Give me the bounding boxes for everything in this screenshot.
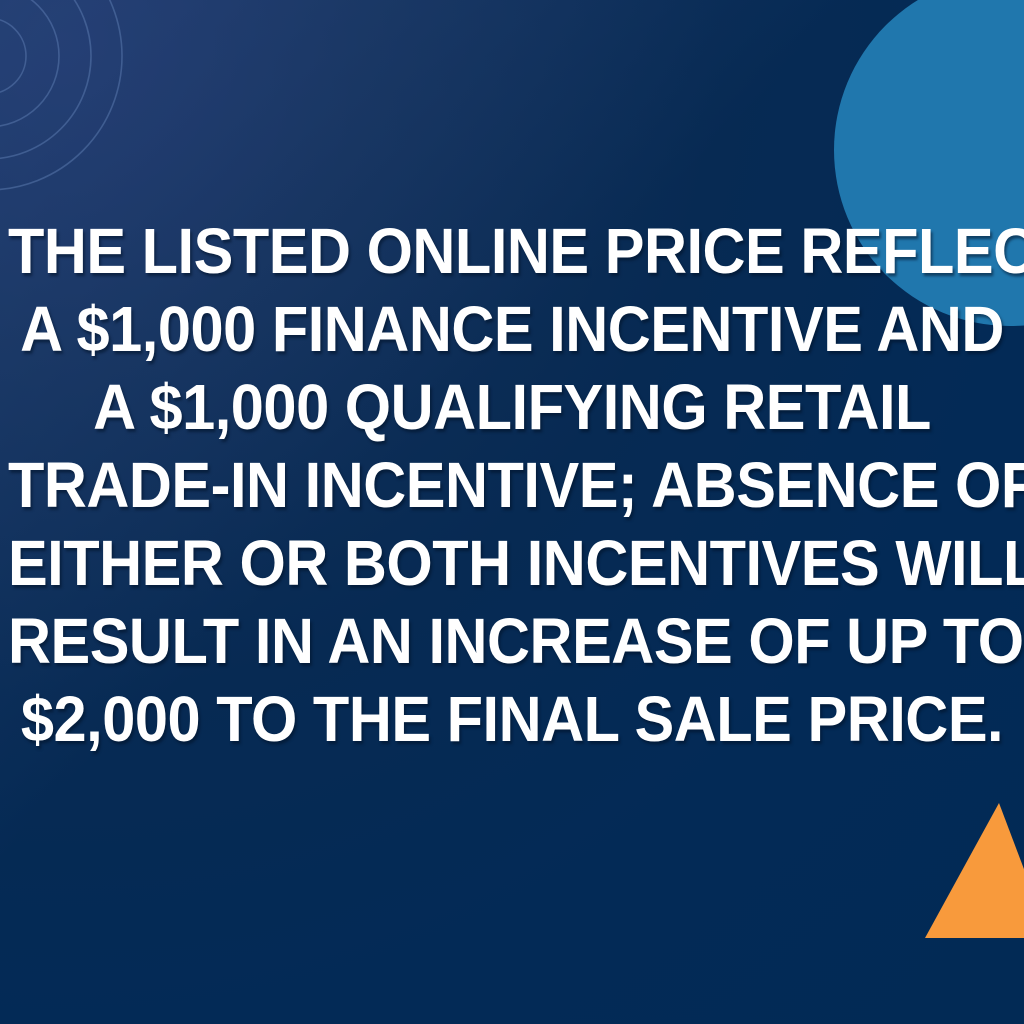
headline-line-6: RESULT IN AN INCREASE OF UP TO <box>8 602 1016 680</box>
headline-line-7: $2,000 TO THE FINAL SALE PRICE. <box>8 680 1016 758</box>
triangle-icon <box>900 780 1024 950</box>
headline-line-1: THE LISTED ONLINE PRICE REFLECTS <box>8 212 1016 290</box>
promo-banner: THE LISTED ONLINE PRICE REFLECTS A $1,00… <box>0 0 1024 1024</box>
headline-line-5: EITHER OR BOTH INCENTIVES WILL <box>8 524 1016 602</box>
headline-line-3: A $1,000 QUALIFYING RETAIL <box>8 368 1016 446</box>
disclaimer-headline: THE LISTED ONLINE PRICE REFLECTS A $1,00… <box>8 212 1016 758</box>
orange-triangle-shape <box>900 780 1024 950</box>
headline-line-2: A $1,000 FINANCE INCENTIVE AND <box>8 290 1016 368</box>
headline-line-4: TRADE-IN INCENTIVE; ABSENCE OF <box>8 446 1016 524</box>
